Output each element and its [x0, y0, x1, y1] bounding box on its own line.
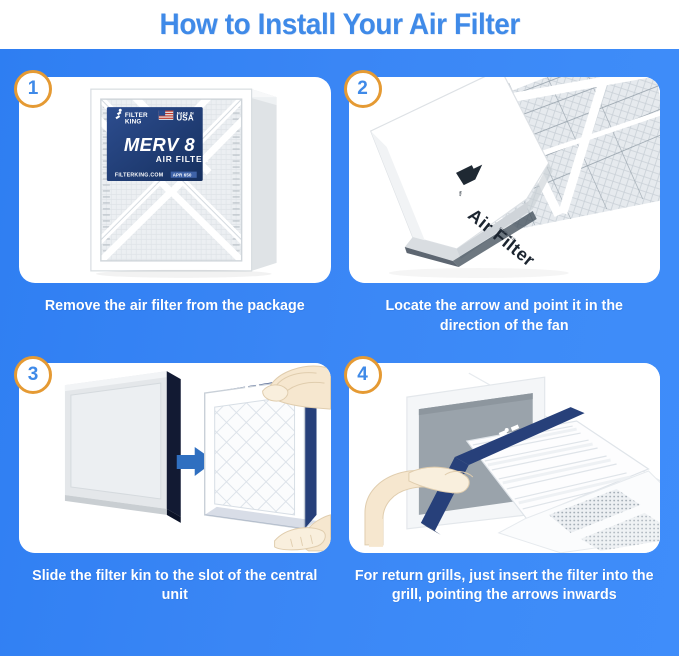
- steps-grid: FILTER KING: [0, 49, 679, 656]
- step-3-badge: 3: [14, 356, 52, 394]
- svg-text:AIR FILTER: AIR FILTER: [156, 154, 209, 164]
- step-2-card: AIR Air Filter REPLACE: [349, 77, 661, 283]
- step-4-badge: 4: [344, 356, 382, 394]
- step-3-card: [19, 363, 331, 553]
- step-1-illustration: FILTER KING: [19, 77, 331, 283]
- step-1-caption: Remove the air filter from the package: [19, 297, 331, 317]
- svg-text:MERV 8: MERV 8: [124, 134, 195, 155]
- step-2: AIR Air Filter REPLACE Locate the arrow …: [349, 77, 661, 361]
- step-1-badge: 1: [14, 70, 52, 108]
- header-band: How to Install Your Air Filter: [0, 0, 679, 49]
- step-2-illustration: AIR Air Filter REPLACE: [349, 77, 661, 283]
- svg-text:FILTERKING.COM: FILTERKING.COM: [115, 172, 164, 178]
- svg-text:APR 650: APR 650: [173, 172, 192, 177]
- svg-text:KING: KING: [125, 119, 142, 126]
- step-1-card: FILTER KING: [19, 77, 331, 283]
- svg-text:USA: USA: [176, 114, 193, 123]
- step-2-caption: Locate the arrow and point it in the dir…: [349, 297, 661, 336]
- step-3: Slide the filter kin to the slot of the …: [19, 363, 331, 647]
- step-3-illustration: [19, 363, 331, 553]
- step-4: For return grills, just insert the filte…: [349, 363, 661, 647]
- step-2-badge: 2: [344, 70, 382, 108]
- step-4-card: [349, 363, 661, 553]
- step-4-illustration: [349, 363, 661, 553]
- infographic-root: How to Install Your Air Filter: [0, 0, 679, 656]
- page-title: How to Install Your Air Filter: [159, 8, 519, 42]
- step-1: FILTER KING: [19, 77, 331, 361]
- step-4-caption: For return grills, just insert the filte…: [349, 567, 661, 606]
- step-3-caption: Slide the filter kin to the slot of the …: [19, 567, 331, 606]
